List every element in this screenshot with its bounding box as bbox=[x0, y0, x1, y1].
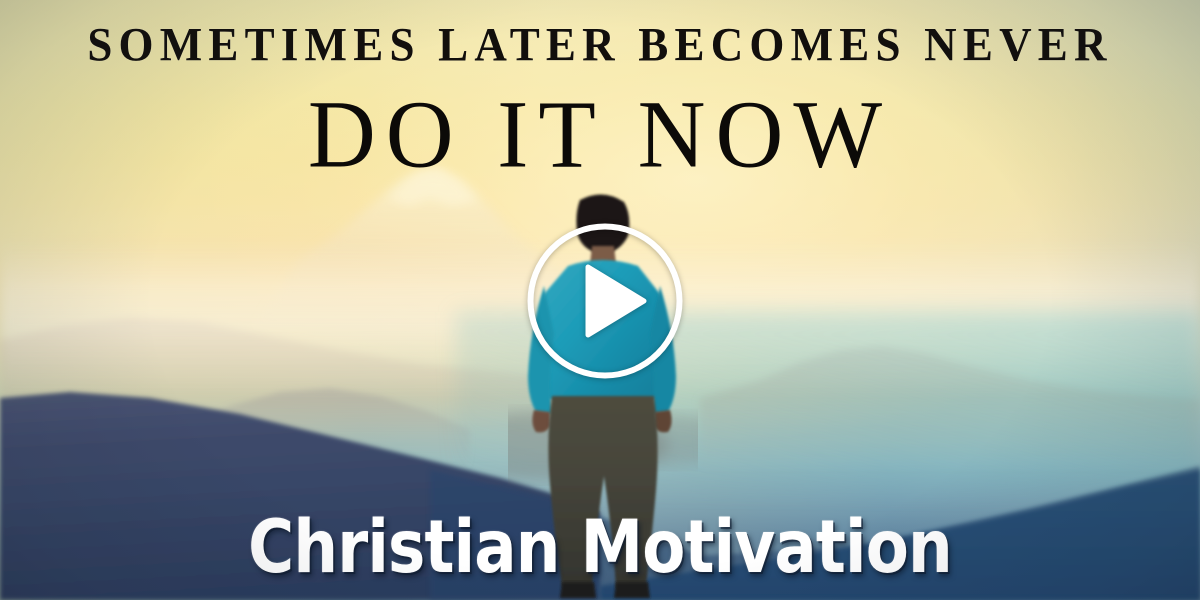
vignette-overlay bbox=[0, 0, 1200, 600]
video-thumbnail[interactable]: SOMETIMES LATER BECOMES NEVER DO IT NOW … bbox=[0, 0, 1200, 600]
